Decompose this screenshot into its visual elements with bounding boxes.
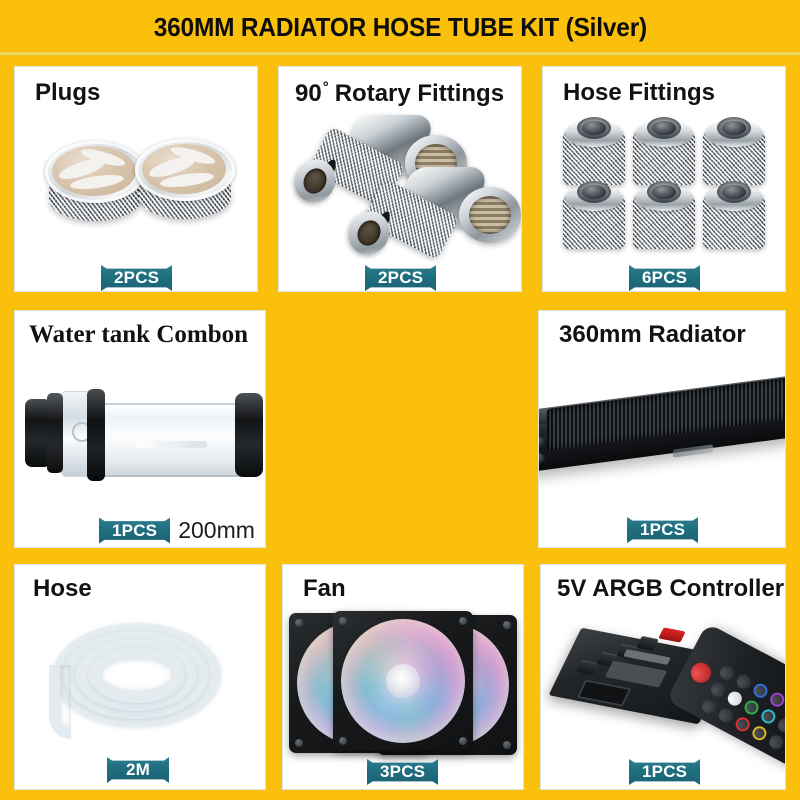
badge-water-tank: 1PCS 200mm — [99, 517, 255, 544]
argb-case-fans-photo — [285, 609, 523, 759]
badge-label: 2M — [107, 757, 169, 783]
badge-label: 3PCS — [367, 759, 438, 785]
badge-rotary-fittings: 2PCS — [365, 265, 436, 291]
panel-argb-controller: 5V ARGB Controller — [540, 564, 786, 790]
remote-power-button — [687, 659, 714, 686]
panel-title-hose: Hose — [33, 575, 92, 603]
badge-label: 1PCS — [627, 517, 698, 543]
badge-hose: 2M — [107, 757, 169, 783]
panel-title-argb-controller: 5V ARGB Controller — [557, 575, 784, 603]
argb-controller-hub-and-remote-photo — [565, 613, 775, 753]
panel-title-fan: Fan — [303, 575, 346, 603]
header-banner: 360MM RADIATOR HOSE TUBE KIT (Silver) — [0, 0, 800, 55]
badge-label: 1PCS — [629, 759, 700, 785]
argb-remote — [666, 623, 786, 771]
panel-hose: Hose 2M — [14, 564, 266, 790]
ninety-degree-rotary-fitting-photo — [279, 67, 522, 292]
badge-radiator: 1PCS — [627, 517, 698, 543]
clear-soft-tubing-coil-photo — [37, 617, 247, 739]
page-title: 360MM RADIATOR HOSE TUBE KIT (Silver) — [153, 12, 646, 43]
panel-grid: Plugs 2PCS 90°Rotary Fittings — [0, 56, 800, 800]
badge-argb-controller: 1PCS — [629, 759, 700, 785]
panel-title-water-tank: Water tank Combon — [29, 321, 248, 349]
pump-reservoir-combo-photo — [25, 389, 263, 489]
panel-rotary-fittings: 90°Rotary Fittings 2PCS — [278, 66, 522, 292]
badge-label: 2PCS — [365, 265, 436, 291]
panel-radiator: 360mm Radiator 1PCS — [538, 310, 786, 548]
panel-plugs: Plugs 2PCS — [14, 66, 258, 292]
chrome-stop-plugs-photo — [15, 67, 258, 292]
badge-hose-fittings: 6PCS — [629, 265, 700, 291]
badge-fan: 3PCS — [367, 759, 438, 785]
water-tank-size-note: 200mm — [178, 517, 255, 544]
product-kit-infographic: 360MM RADIATOR HOSE TUBE KIT (Silver) Pl… — [0, 0, 800, 800]
panel-title-radiator: 360mm Radiator — [559, 321, 746, 349]
badge-label: 2PCS — [101, 265, 172, 291]
panel-water-tank: Water tank Combon 1PCS 200mm — [14, 310, 266, 548]
panel-hose-fittings: Hose Fittings 6PCS — [542, 66, 786, 292]
panel-fan: Fan 3PCS — [282, 564, 524, 790]
compression-hose-fittings-photo — [543, 67, 786, 292]
triple-fan-radiator-photo — [538, 373, 786, 493]
badge-label: 6PCS — [629, 265, 700, 291]
badge-label: 1PCS — [99, 518, 170, 544]
badge-plugs: 2PCS — [101, 265, 172, 291]
